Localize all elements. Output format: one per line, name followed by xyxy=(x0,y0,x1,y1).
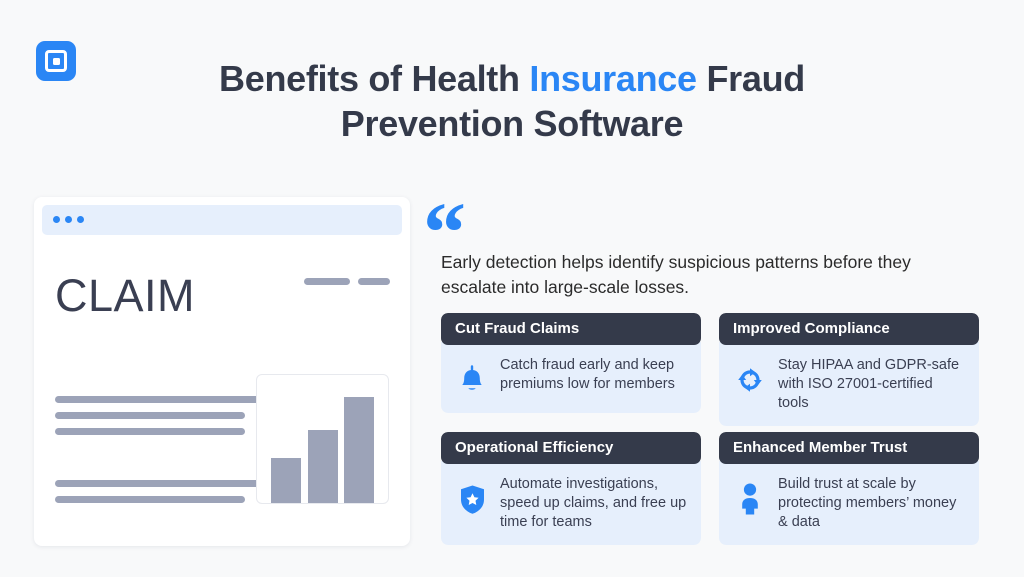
claim-heading: CLAIM xyxy=(55,270,195,322)
benefit-card-operational-efficiency: Operational Efficiency Automate investig… xyxy=(441,432,701,545)
text-line xyxy=(55,428,245,435)
benefit-card-text: Catch fraud early and keep premiums low … xyxy=(500,356,689,394)
bar-1 xyxy=(271,458,301,503)
bar-2 xyxy=(308,430,338,503)
window-dot-2 xyxy=(65,216,72,223)
benefit-card-cut-fraud-claims: Cut Fraud Claims Catch fraud early and k… xyxy=(441,313,701,413)
quote-text: Early detection helps identify suspiciou… xyxy=(441,250,941,300)
bell-icon xyxy=(455,360,489,400)
window-dot-3 xyxy=(77,216,84,223)
claim-document-card: CLAIM xyxy=(34,197,410,546)
shield-star-icon xyxy=(455,479,489,519)
benefit-card-title: Improved Compliance xyxy=(719,313,979,345)
header-dash-1 xyxy=(304,278,350,285)
benefit-card-title: Operational Efficiency xyxy=(441,432,701,464)
person-icon xyxy=(733,479,767,519)
benefit-card-text: Stay HIPAA and GDPR-safe with ISO 27001-… xyxy=(778,356,967,413)
bar-3 xyxy=(344,397,374,503)
benefit-card-text: Automate investigations, speed up claims… xyxy=(500,475,689,532)
benefit-card-body: Build trust at scale by protecting membe… xyxy=(719,461,979,545)
header-dash-2 xyxy=(358,278,390,285)
benefit-card-title: Cut Fraud Claims xyxy=(441,313,701,345)
benefit-card-title: Enhanced Member Trust xyxy=(719,432,979,464)
benefit-card-enhanced-member-trust: Enhanced Member Trust Build trust at sca… xyxy=(719,432,979,545)
window-dots xyxy=(53,216,84,223)
benefit-card-body: Automate investigations, speed up claims… xyxy=(441,461,701,545)
title-segment-1: Benefits of Health xyxy=(219,58,529,99)
title-segment-2: Fraud xyxy=(697,58,805,99)
logo-inner-dot xyxy=(53,58,60,65)
logo-ring xyxy=(45,50,67,72)
benefit-card-text: Build trust at scale by protecting membe… xyxy=(778,475,967,532)
window-dot-1 xyxy=(53,216,60,223)
page-title: Benefits of Health Insurance Fraud Preve… xyxy=(182,56,842,146)
benefit-card-body: Stay HIPAA and GDPR-safe with ISO 27001-… xyxy=(719,342,979,426)
brand-logo-icon xyxy=(36,41,76,81)
window-titlebar xyxy=(42,205,402,235)
benefit-card-body: Catch fraud early and keep premiums low … xyxy=(441,342,701,413)
text-line xyxy=(55,412,245,419)
recycle-cycle-icon xyxy=(733,360,767,400)
bar-chart-bars xyxy=(271,385,374,503)
bar-chart xyxy=(256,374,389,504)
benefit-card-improved-compliance: Improved Compliance Stay HIPAA and GDPR-… xyxy=(719,313,979,426)
text-line xyxy=(55,496,245,503)
title-line-2: Prevention Software xyxy=(341,103,683,144)
title-accent-word: Insurance xyxy=(529,58,696,99)
